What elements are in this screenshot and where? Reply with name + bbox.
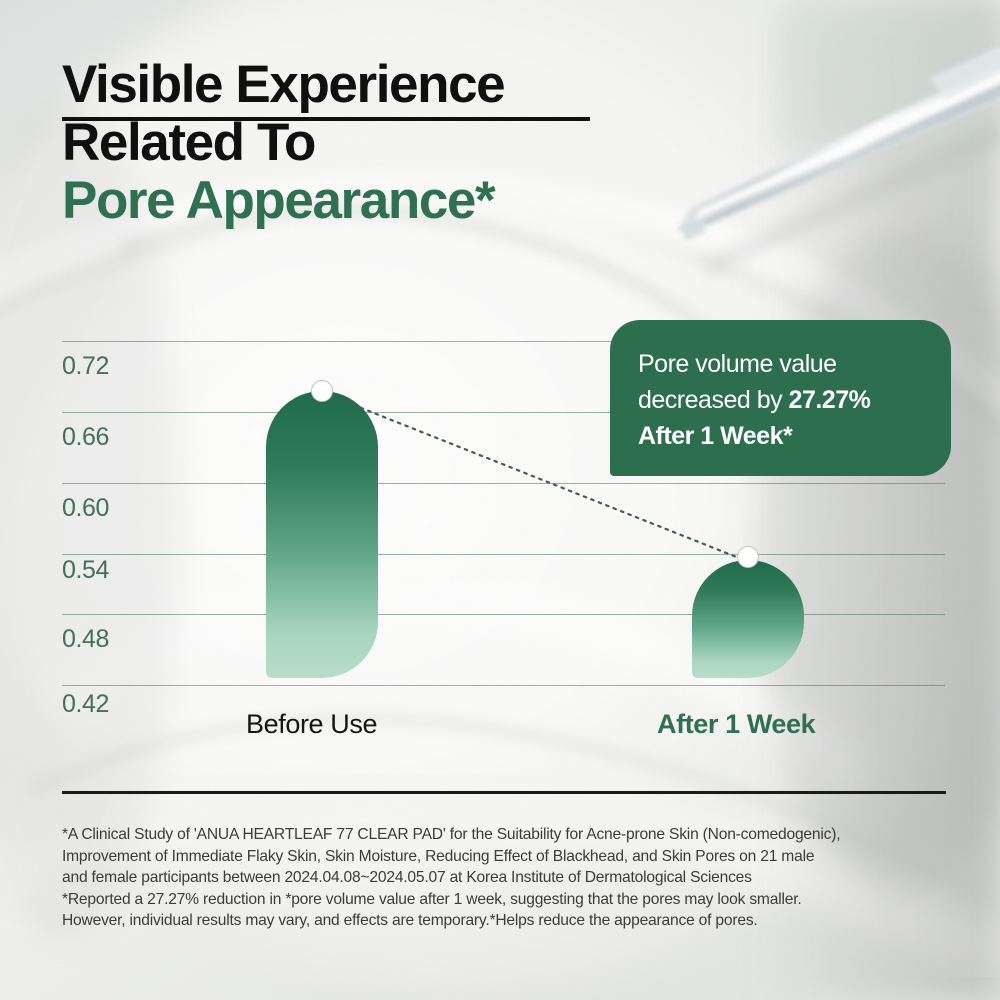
ytick-label-5: 0.42 <box>62 690 109 719</box>
result-callout-box: Pore volume valuedecreased by 27.27%Afte… <box>610 320 951 476</box>
bar-before-use-fill <box>266 391 378 678</box>
gridline-060 <box>62 483 945 484</box>
data-point-marker-after-1-week <box>737 546 759 568</box>
bar-after-1-week <box>692 560 804 678</box>
gridline-048 <box>62 614 945 615</box>
callout-line-1: Pore volume value <box>638 350 837 378</box>
callout-text: Pore volume valuedecreased by 27.27%Afte… <box>638 346 925 454</box>
footnote-line-3: and female participants between 2024.04.… <box>62 867 962 889</box>
ytick-label-4: 0.48 <box>62 625 109 654</box>
gridline-042 <box>62 685 945 686</box>
ytick-label-2: 0.60 <box>62 494 109 523</box>
bar-before-use <box>266 391 378 678</box>
xlabel-after-1-week: After 1 Week <box>657 709 815 740</box>
gridline-054 <box>62 554 945 555</box>
footnote-block: *A Clinical Study of 'ANUA HEARTLEAF 77 … <box>62 824 962 932</box>
footnote-line-2: Improvement of Immediate Flaky Skin, Ski… <box>62 846 962 868</box>
bar-after-1-week-fill <box>692 560 804 678</box>
footnote-line-4: *Reported a 27.27% reduction in *pore vo… <box>62 889 962 911</box>
footnote-line-5: However, individual results may vary, an… <box>62 910 962 932</box>
ytick-label-1: 0.66 <box>62 423 109 452</box>
data-point-marker-before-use <box>311 380 333 402</box>
callout-highlight-percent: 27.27% <box>789 386 871 414</box>
callout-line-3: After 1 Week* <box>638 422 792 450</box>
ytick-label-0: 0.72 <box>62 352 109 381</box>
ytick-label-3: 0.54 <box>62 556 109 585</box>
footnote-divider <box>62 791 946 794</box>
footnote-line-1: *A Clinical Study of 'ANUA HEARTLEAF 77 … <box>62 824 962 846</box>
xlabel-before-use: Before Use <box>246 709 377 740</box>
callout-line-2-prefix: decreased by <box>638 386 789 414</box>
